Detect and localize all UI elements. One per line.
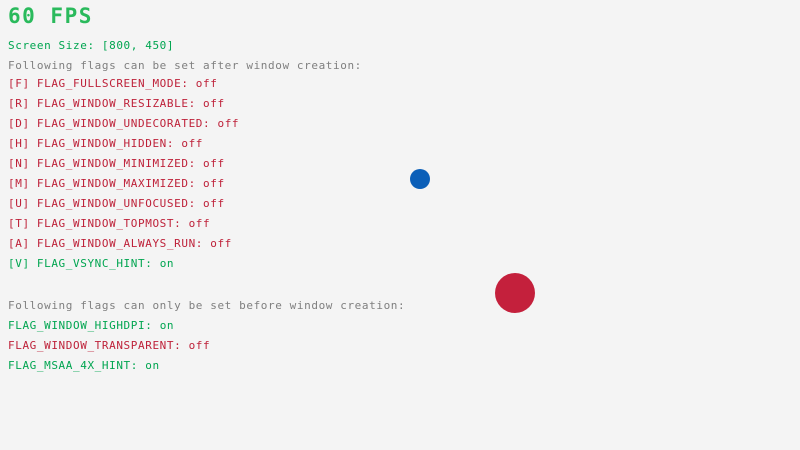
flag-name: FLAG_WINDOW_ALWAYS_RUN: <box>37 237 210 250</box>
flag-row-flag-window-transparent[interactable]: FLAG_WINDOW_TRANSPARENT: off <box>8 340 210 352</box>
flag-row-flag-window-highdpi[interactable]: FLAG_WINDOW_HIGHDPI: on <box>8 320 174 332</box>
ball-red-circle <box>495 273 535 313</box>
flag-value: on <box>145 359 159 372</box>
ball-blue-circle <box>410 169 430 189</box>
flag-value: off <box>203 177 225 190</box>
fps-counter: 60 FPS <box>8 6 93 27</box>
flag-row-flag-window-resizable[interactable]: [R] FLAG_WINDOW_RESIZABLE: off <box>8 98 225 110</box>
flag-row-flag-window-unfocused[interactable]: [U] FLAG_WINDOW_UNFOCUSED: off <box>8 198 225 210</box>
flag-name: FLAG_WINDOW_UNDECORATED: <box>37 117 218 130</box>
flag-row-flag-window-topmost[interactable]: [T] FLAG_WINDOW_TOPMOST: off <box>8 218 210 230</box>
flag-name: FLAG_FULLSCREEN_MODE: <box>37 77 196 90</box>
flag-value: off <box>203 197 225 210</box>
flag-name: FLAG_WINDOW_MINIMIZED: <box>37 157 203 170</box>
flag-shortcut-key: [M] <box>8 177 37 190</box>
flag-row-flag-window-hidden[interactable]: [H] FLAG_WINDOW_HIDDEN: off <box>8 138 203 150</box>
flag-shortcut-key: [V] <box>8 257 37 270</box>
flag-shortcut-key: [T] <box>8 217 37 230</box>
raylib-window-flags-canvas: 60 FPS Screen Size: [800, 450] Following… <box>0 0 800 450</box>
flag-value: on <box>160 257 174 270</box>
flag-name: FLAG_WINDOW_TRANSPARENT: <box>8 339 189 352</box>
flag-shortcut-key: [R] <box>8 97 37 110</box>
flag-value: off <box>189 217 211 230</box>
flag-shortcut-key: [F] <box>8 77 37 90</box>
flag-value: off <box>210 237 232 250</box>
flag-shortcut-key: [U] <box>8 197 37 210</box>
flag-row-flag-fullscreen-mode[interactable]: [F] FLAG_FULLSCREEN_MODE: off <box>8 78 217 90</box>
screen-size-label: Screen Size: [800, 450] <box>8 40 174 52</box>
flag-value: off <box>189 339 211 352</box>
runtime-flags-section-title: Following flags can be set after window … <box>8 60 362 72</box>
flag-value: off <box>181 137 203 150</box>
flag-name: FLAG_MSAA_4X_HINT: <box>8 359 145 372</box>
flag-name: FLAG_WINDOW_MAXIMIZED: <box>37 177 203 190</box>
flag-value: off <box>203 157 225 170</box>
flag-shortcut-key: [D] <box>8 117 37 130</box>
flag-name: FLAG_WINDOW_RESIZABLE: <box>37 97 203 110</box>
flag-value: off <box>217 117 239 130</box>
flag-value: off <box>203 97 225 110</box>
flag-row-flag-msaa-4x-hint[interactable]: FLAG_MSAA_4X_HINT: on <box>8 360 160 372</box>
flag-name: FLAG_WINDOW_TOPMOST: <box>37 217 189 230</box>
flag-row-flag-window-undecorated[interactable]: [D] FLAG_WINDOW_UNDECORATED: off <box>8 118 239 130</box>
flag-shortcut-key: [A] <box>8 237 37 250</box>
flag-name: FLAG_WINDOW_UNFOCUSED: <box>37 197 203 210</box>
flag-row-flag-window-maximized[interactable]: [M] FLAG_WINDOW_MAXIMIZED: off <box>8 178 225 190</box>
flag-value: on <box>160 319 174 332</box>
creation-flags-section-title: Following flags can only be set before w… <box>8 300 405 312</box>
flag-row-flag-vsync-hint[interactable]: [V] FLAG_VSYNC_HINT: on <box>8 258 174 270</box>
flag-row-flag-window-minimized[interactable]: [N] FLAG_WINDOW_MINIMIZED: off <box>8 158 225 170</box>
flag-name: FLAG_VSYNC_HINT: <box>37 257 160 270</box>
flag-shortcut-key: [N] <box>8 157 37 170</box>
flag-name: FLAG_WINDOW_HIGHDPI: <box>8 319 160 332</box>
flag-shortcut-key: [H] <box>8 137 37 150</box>
flag-value: off <box>196 77 218 90</box>
flag-row-flag-window-always-run[interactable]: [A] FLAG_WINDOW_ALWAYS_RUN: off <box>8 238 232 250</box>
flag-name: FLAG_WINDOW_HIDDEN: <box>37 137 181 150</box>
